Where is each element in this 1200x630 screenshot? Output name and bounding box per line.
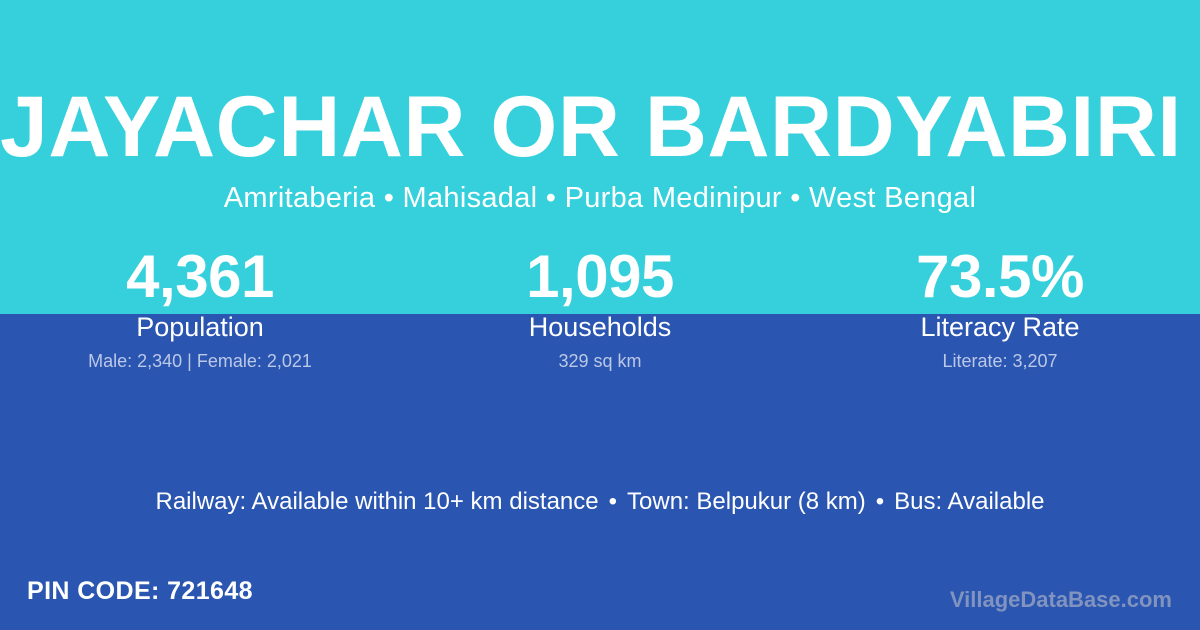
stat-literacy-rate-value: 73.5%	[800, 244, 1200, 310]
facility-town: Town: Belpukur (8 km)	[627, 488, 866, 515]
facility-separator-1: •	[599, 486, 627, 518]
stat-population-label: Population	[0, 310, 400, 344]
stat-population-value: 4,361	[0, 244, 400, 310]
stat-population: 4,361 Population Male: 2,340 | Female: 2…	[0, 244, 400, 374]
stat-households-area: 329 sq km	[400, 348, 800, 374]
stat-households-value: 1,095	[400, 244, 800, 310]
stat-households: 1,095 Households 329 sq km	[400, 244, 800, 374]
page-title: JAYACHAR OR BARDYABIRI CHAK	[0, 79, 1200, 175]
village-info-card: JAYACHAR OR BARDYABIRI CHAK Amritaberia …	[0, 0, 1200, 630]
stats-row: 4,361 Population Male: 2,340 | Female: 2…	[0, 244, 1200, 374]
facilities-row: Railway: Available within 10+ km distanc…	[0, 486, 1200, 518]
location-breadcrumb: Amritaberia • Mahisadal • Purba Medinipu…	[0, 182, 1200, 215]
stat-literacy-rate: 73.5% Literacy Rate Literate: 3,207	[800, 244, 1200, 374]
stat-literacy-rate-label: Literacy Rate	[800, 310, 1200, 344]
facility-separator-2: •	[866, 486, 894, 518]
pin-code: PIN CODE: 721648	[27, 575, 253, 607]
stat-population-breakdown: Male: 2,340 | Female: 2,021	[0, 348, 400, 374]
site-watermark: VillageDataBase.com	[950, 586, 1172, 614]
stat-households-label: Households	[400, 310, 800, 344]
stat-literacy-rate-count: Literate: 3,207	[800, 348, 1200, 374]
facility-railway: Railway: Available within 10+ km distanc…	[155, 488, 598, 515]
facility-bus: Bus: Available	[894, 488, 1044, 515]
